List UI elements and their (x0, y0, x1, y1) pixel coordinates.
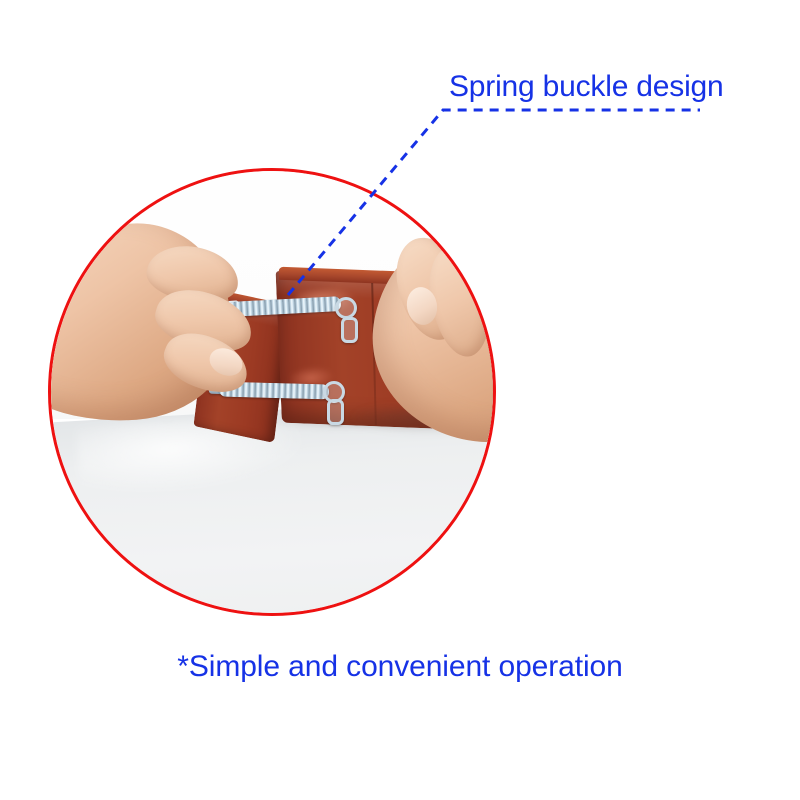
callout-title: Spring buckle design (449, 70, 724, 104)
photo-inner (51, 171, 493, 613)
eyelet-tab-lower (327, 399, 344, 425)
product-feature-graphic: Spring buckle design *Simple and conveni… (0, 0, 800, 800)
product-photo-circle (48, 168, 496, 616)
feature-caption: *Simple and convenient operation (0, 650, 800, 684)
eyelet-hook-upper (335, 297, 357, 319)
eyelet-tab-upper (341, 317, 358, 343)
